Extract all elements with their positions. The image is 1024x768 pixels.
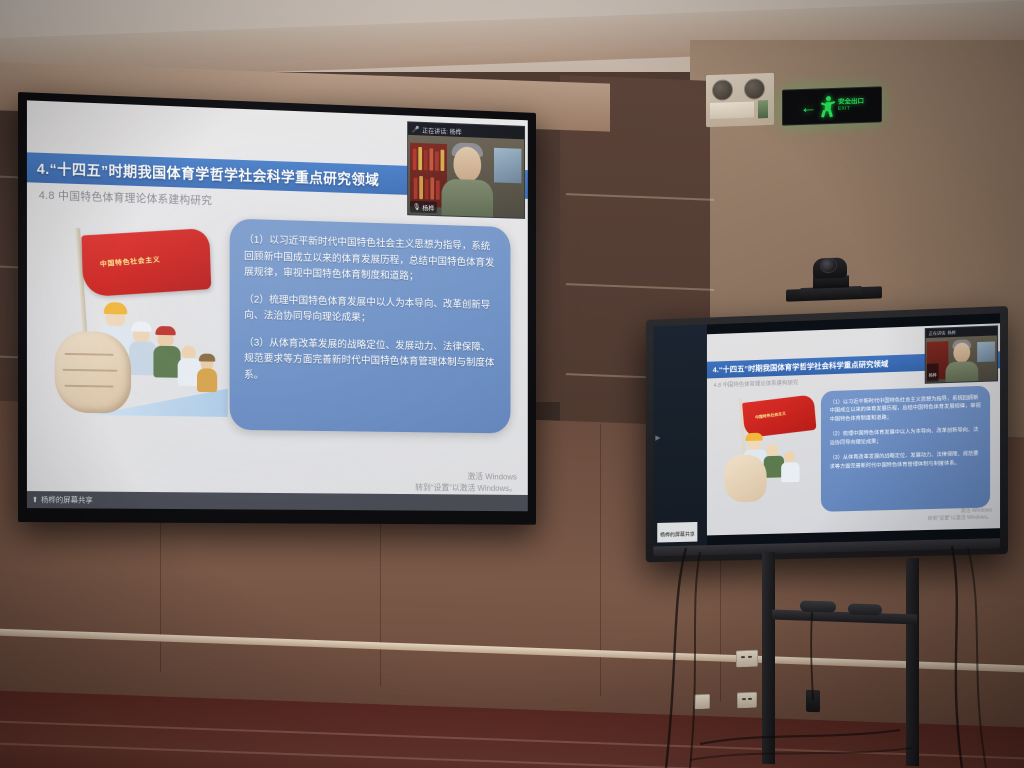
person-head (454, 146, 482, 182)
slide-bullet: （3）从体育改革发展的战略定位、发展动力、法律保障、规范要求等方面完善新时代中国… (244, 335, 497, 388)
tv-slide-bullet: （3）从体育改革发展的战略定位、发展动力、法律保障、规范要求等方面完善新时代中国… (830, 450, 981, 471)
window-background (494, 148, 521, 184)
tv-screen: 4.“十四五”时期我国体育学哲学社会科学重点研究领域 4.8 中国特色体育理论体… (653, 313, 1000, 546)
video-participant-thumbnail[interactable]: 🎤 正在讲话: 杨桦 (407, 121, 525, 219)
tv-video-participant-thumbnail: 正在讲话: 杨桦 杨桦 (925, 325, 998, 383)
emergency-lamp (744, 78, 765, 100)
tv-person-torso (945, 361, 978, 383)
tv-slide-bullet: （2）梳理中国特色体育发展中以人为本导向、改革创新导向、法治协同导向理论成果； (830, 426, 981, 447)
watermark-line-2: 转到“设置”以激活 Windows。 (415, 482, 517, 494)
tv-figure-head (784, 451, 795, 462)
fist-line (64, 353, 113, 356)
tv-slide-subtitle: 4.8 中国特色体育理论体系建构研究 (714, 378, 799, 389)
tv-figure-head (767, 444, 779, 456)
power-adapter-brick (806, 690, 820, 712)
tv-figure-torso (781, 462, 799, 482)
exit-sign-text: 安全出口 EXIT (838, 99, 864, 111)
fist-line (64, 385, 113, 387)
book (429, 148, 433, 170)
tv-window-background (977, 341, 995, 362)
tv-screen-share-bar: 杨桦的屏幕共享 (657, 522, 697, 543)
exit-label-en: EXIT (838, 106, 864, 112)
tv-participant-name: 杨桦 (929, 372, 937, 377)
tv-mirrored-slide: 4.“十四五”时期我国体育学哲学社会科学重点研究领域 4.8 中国特色体育理论体… (707, 323, 1000, 535)
tv-flag-illustration: 中国特色社会主义 (718, 391, 819, 510)
figure-hat (104, 302, 127, 314)
speaking-label: 正在讲话: 杨桦 (422, 124, 461, 135)
book (419, 176, 423, 199)
flag-and-crowd-illustration: 中国特色社会主义 (47, 219, 228, 421)
power-outlet[interactable] (736, 650, 758, 668)
tv-stand-leg-left (762, 552, 775, 764)
microphone-icon: 🎤 (412, 125, 420, 133)
participant-name: 杨桦 (422, 202, 434, 212)
tv-content-box: （1）以习近平新时代中国特色社会主义思想为指导，系统回顾新中国成立以来的体育发展… (821, 386, 990, 512)
ptz-conference-camera-icon (800, 255, 862, 299)
emergency-light-fixture (706, 73, 774, 127)
book (436, 180, 440, 199)
slide-content-box: （1）以习近平新时代中国特色社会主义思想为指导，系统回顾新中国成立以来的体育发展… (230, 218, 511, 433)
microphone-icon: 🎙 (413, 203, 421, 211)
tv-figure-hat (745, 433, 762, 441)
running-person-icon (820, 95, 835, 117)
slide-bullet: （1）以习近平新时代中国特色社会主义思想为指导，系统回顾新中国成立以来的体育发展… (244, 233, 497, 288)
book (418, 147, 422, 170)
book (435, 151, 439, 170)
tv-watermark-line-2: 转到“设置”以激活 Windows。 (928, 514, 992, 522)
tv-participant-name-badge: 杨桦 (927, 363, 939, 381)
tv-stand-leg-right (906, 558, 919, 766)
figure-torso (153, 346, 180, 378)
figure-hat (199, 353, 215, 361)
presentation-slide: 4.“十四五”时期我国体育学哲学社会科学重点研究领域 4.8 中国特色体育理论体… (27, 100, 528, 511)
slide-subtitle: 4.8 中国特色体育理论体系建构研究 (39, 187, 212, 208)
book (441, 150, 445, 171)
exit-sign: ← 安全出口 EXIT (782, 86, 882, 125)
figure-torso (129, 341, 156, 375)
figure-hat (155, 326, 175, 335)
share-icon: ⬆ (32, 495, 38, 504)
figure-hat (131, 321, 151, 331)
fist-line (63, 369, 118, 372)
screen-share-label: 杨桦的屏幕共享 (41, 494, 93, 505)
power-outlet[interactable] (737, 692, 757, 709)
screen-share-bar: ⬆ 杨桦的屏幕共享 (27, 491, 528, 511)
figure-torso (197, 368, 217, 392)
tv-person-head (953, 342, 970, 363)
slide-bullet: （2）梳理中国特色体育发展中以人为本导向、改革创新导向、法治协同导向理论成果； (244, 292, 497, 330)
projection-screen: 4.“十四五”时期我国体育学哲学社会科学重点研究领域 4.8 中国特色体育理论体… (18, 92, 536, 525)
book (413, 149, 417, 170)
tv-screen-share-label: 杨桦的屏幕共享 (660, 532, 695, 539)
fixture-indicator (758, 100, 768, 118)
video-feed: 🎙 杨桦 (408, 135, 524, 218)
participant-name-badge: 🎙 杨桦 (410, 201, 437, 213)
book (425, 179, 429, 199)
tv-source-indicator: ▶ (655, 434, 660, 442)
fist-icon (55, 331, 131, 414)
arrow-left-icon: ← (800, 98, 817, 116)
shelf-device (800, 600, 836, 612)
wall-display-tv[interactable]: 4.“十四五”时期我国体育学哲学社会科学重点研究领域 4.8 中国特色体育理论体… (646, 306, 1008, 562)
tv-fist-icon (724, 454, 766, 502)
slide-title: 4.“十四五”时期我国体育学哲学社会科学重点研究领域 (27, 157, 379, 190)
tv-speaking-label: 正在讲话: 杨桦 (929, 329, 956, 336)
projection-surface: 4.“十四五”时期我国体育学哲学社会科学重点研究领域 4.8 中国特色体育理论体… (27, 100, 528, 511)
person-torso (441, 179, 493, 218)
tv-video-feed: 杨桦 (926, 335, 997, 382)
emergency-lamp (712, 79, 733, 101)
fixture-label-plate (710, 102, 754, 120)
book (414, 178, 418, 199)
book (430, 177, 434, 199)
tv-slide-bullet: （1）以习近平新时代中国特色社会主义思想为指导，系统回顾新中国成立以来的体育发展… (830, 394, 981, 424)
book (424, 150, 428, 170)
windows-activation-watermark: 激活 Windows 转到“设置”以激活 Windows。 (415, 471, 517, 494)
conference-room-scene: 4.“十四五”时期我国体育学哲学社会科学重点研究领域 4.8 中国特色体育理论体… (0, 0, 1024, 768)
watermark-line-1: 激活 Windows (415, 471, 517, 483)
power-outlet[interactable] (694, 694, 710, 710)
tv-slide-title: 4.“十四五”时期我国体育学哲学社会科学重点研究领域 (707, 358, 888, 375)
shelf-device (848, 603, 882, 615)
tv-windows-watermark: 激活 Windows 转到“设置”以激活 Windows。 (928, 507, 992, 522)
tv-letterbox (653, 324, 707, 546)
